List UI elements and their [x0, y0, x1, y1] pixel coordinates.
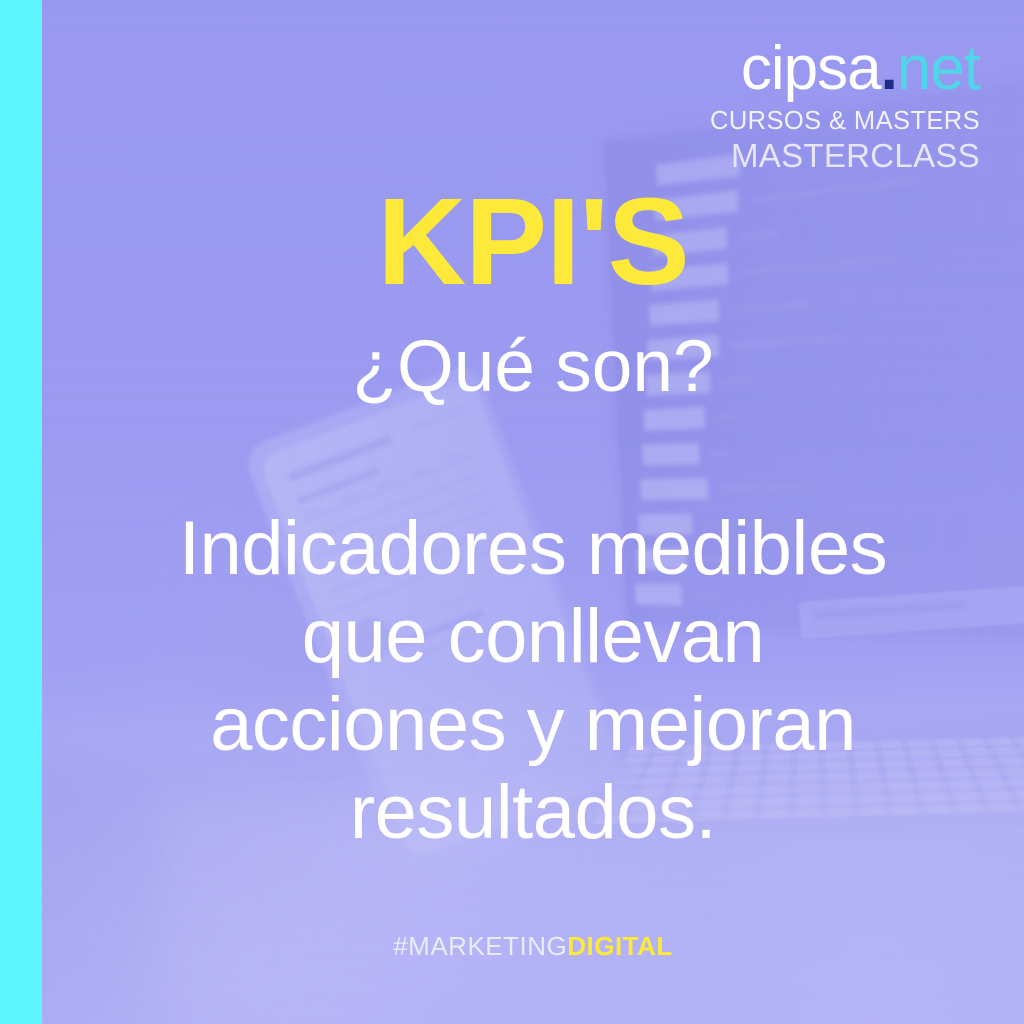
- logo-dot: .: [881, 34, 897, 103]
- body-copy: Indicadores medibles que conllevan accio…: [42, 505, 1024, 858]
- page-title: KPI'S: [42, 181, 1024, 304]
- footer-hashtag: #MARKETINGDIGITAL: [42, 933, 1024, 959]
- hashtag-suffix: DIGITAL: [567, 931, 673, 961]
- logo-tagline-cursos: CURSOS & MASTERS: [710, 109, 980, 135]
- body-line: que conllevan: [42, 593, 1024, 681]
- left-accent-bar: [0, 0, 42, 1024]
- brand-logo: cipsa.net CURSOS & MASTERS MASTERCLASS: [710, 38, 980, 172]
- body-line: Indicadores medibles: [42, 505, 1024, 593]
- body-line: acciones y mejoran: [42, 681, 1024, 769]
- hashtag-prefix: #MARKETING: [393, 931, 567, 961]
- logo-wordmark: cipsa.net: [710, 38, 980, 100]
- body-line: resultados.: [42, 769, 1024, 857]
- content-layer: cipsa.net CURSOS & MASTERS MASTERCLASS K…: [42, 0, 1024, 1024]
- logo-tld: net: [897, 34, 980, 103]
- logo-tagline-masterclass: MASTERCLASS: [710, 139, 980, 172]
- page-subtitle: ¿Qué son?: [42, 330, 1024, 403]
- logo-name-text: cipsa: [741, 34, 881, 103]
- poster-canvas: cipsa.net CURSOS & MASTERS MASTERCLASS K…: [0, 0, 1024, 1024]
